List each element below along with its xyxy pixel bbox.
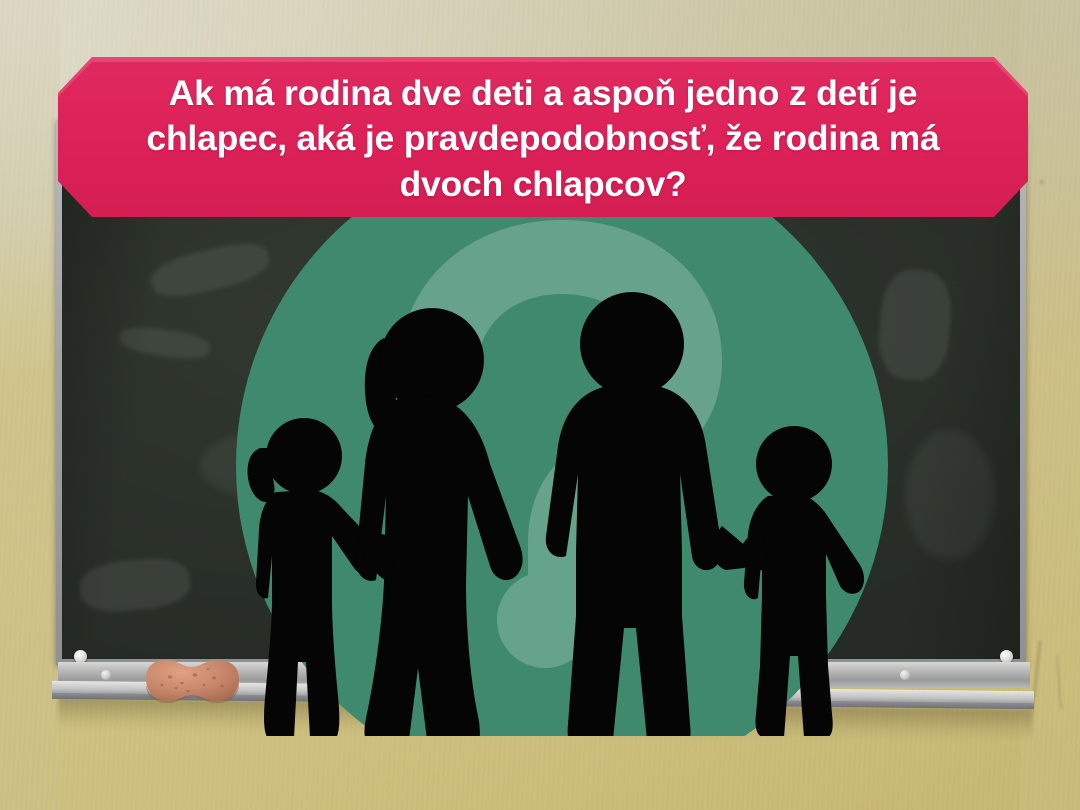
family-illustration <box>232 196 892 736</box>
wall-scuff-icon <box>1040 180 1044 184</box>
poster-scene: Ak má rodina dve deti a aspoň jedno z de… <box>0 0 1080 810</box>
question-banner <box>58 57 1028 217</box>
tray-screw-icon <box>101 670 111 680</box>
tray-screw-icon <box>900 670 910 680</box>
sponge-eraser-icon <box>140 655 244 705</box>
wall-left-strip <box>0 0 60 810</box>
wall-right-strip <box>1020 0 1080 810</box>
